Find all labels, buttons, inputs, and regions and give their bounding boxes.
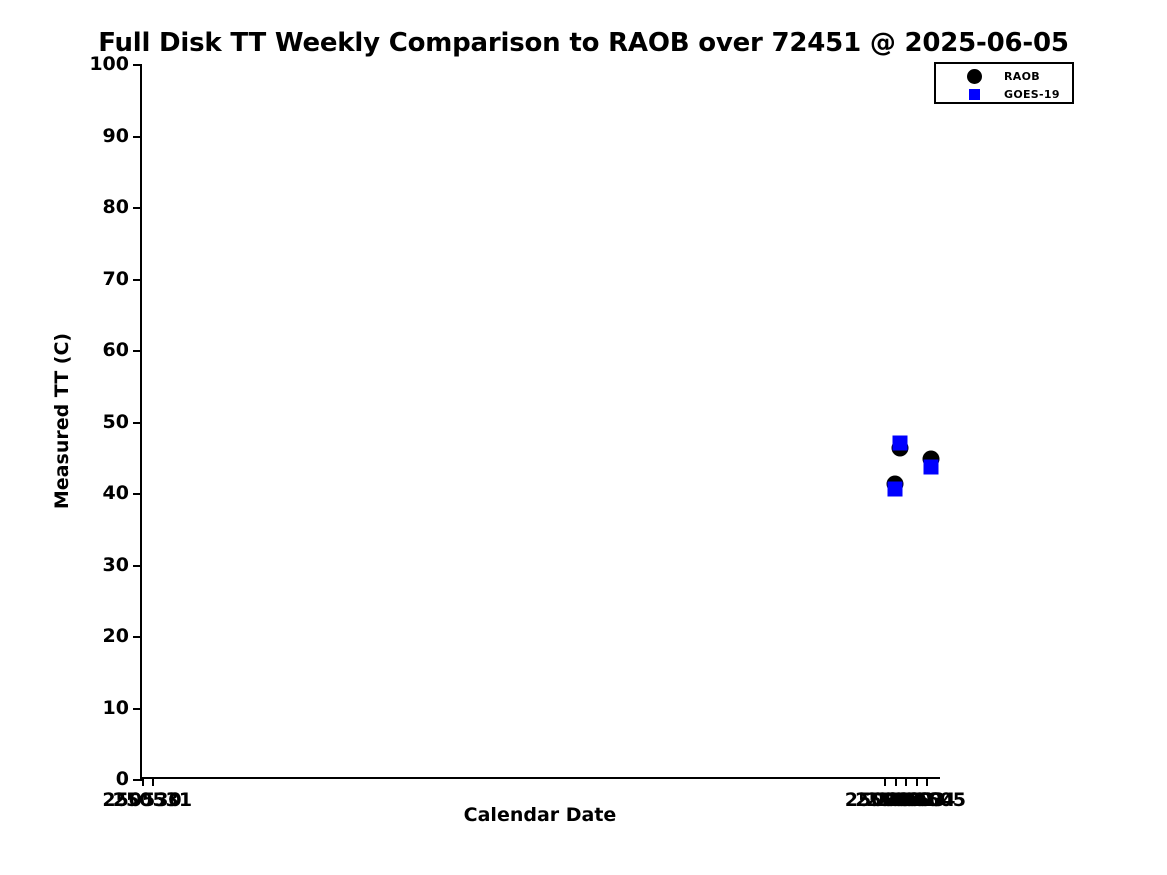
y-tick-mark xyxy=(133,279,142,281)
x-tick-label: 250531 xyxy=(113,789,192,811)
y-tick-mark xyxy=(133,779,142,781)
data-point-goes-19 xyxy=(887,481,902,496)
legend-label: GOES-19 xyxy=(1004,88,1060,101)
x-axis-title: Calendar Date xyxy=(464,804,617,826)
data-point-goes-19 xyxy=(893,435,908,450)
circle-marker-icon xyxy=(967,69,982,84)
x-tick-mark xyxy=(895,777,897,786)
y-tick-label: 90 xyxy=(103,125,129,147)
square-marker-icon xyxy=(969,89,980,100)
legend-swatch xyxy=(954,69,994,84)
y-tick-mark xyxy=(133,136,142,138)
y-tick-mark xyxy=(133,422,142,424)
legend-item: RAOB xyxy=(936,66,1072,86)
y-tick-mark xyxy=(133,493,142,495)
y-tick-label: 60 xyxy=(103,339,129,361)
legend-item: GOES-19 xyxy=(936,84,1072,104)
x-tick-mark xyxy=(152,777,154,786)
page-title: Full Disk TT Weekly Comparison to RAOB o… xyxy=(0,28,1167,58)
y-tick-label: 30 xyxy=(103,554,129,576)
data-point-goes-19 xyxy=(924,459,939,474)
x-tick-label: 250605 xyxy=(887,789,966,811)
x-tick-mark xyxy=(926,777,928,786)
y-tick-mark xyxy=(133,708,142,710)
y-tick-label: 10 xyxy=(103,697,129,719)
y-tick-mark xyxy=(133,64,142,66)
x-tick-mark xyxy=(884,777,886,786)
legend-label: RAOB xyxy=(1004,70,1040,83)
y-tick-mark xyxy=(133,350,142,352)
y-tick-label: 20 xyxy=(103,625,129,647)
chart-figure: Full Disk TT Weekly Comparison to RAOB o… xyxy=(0,0,1167,875)
y-tick-label: 0 xyxy=(116,768,129,790)
y-tick-mark xyxy=(133,636,142,638)
y-tick-label: 50 xyxy=(103,411,129,433)
y-tick-mark xyxy=(133,207,142,209)
x-tick-mark xyxy=(142,777,144,786)
y-tick-label: 70 xyxy=(103,268,129,290)
y-tick-label: 40 xyxy=(103,482,129,504)
legend-box: RAOBGOES-19 xyxy=(934,62,1074,104)
legend-swatch xyxy=(954,89,994,100)
y-axis-title: Measured TT (C) xyxy=(51,333,73,509)
y-tick-label: 100 xyxy=(89,53,129,75)
y-tick-mark xyxy=(133,565,142,567)
plot-area: 0102030405060708090100 25053025053125060… xyxy=(140,64,940,779)
x-tick-mark xyxy=(905,777,907,786)
x-tick-mark xyxy=(916,777,918,786)
y-tick-label: 80 xyxy=(103,196,129,218)
